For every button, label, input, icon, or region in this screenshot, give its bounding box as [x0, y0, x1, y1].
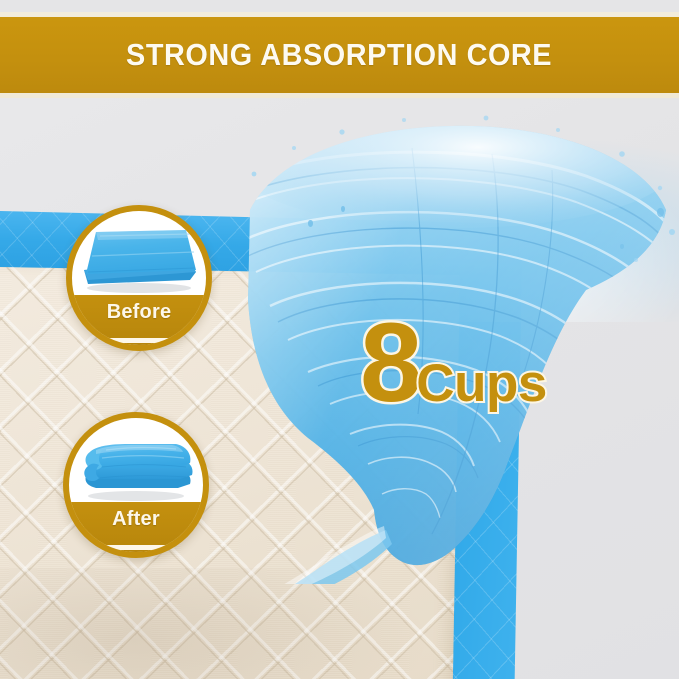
- folded-pad-icon: [69, 418, 203, 514]
- badge-before[interactable]: Before: [66, 205, 212, 351]
- banner-top-gap: [0, 0, 679, 12]
- badge-before-label: Before: [107, 301, 172, 324]
- water-droplet: [620, 244, 624, 249]
- badge-before-band: Before: [72, 295, 206, 345]
- page-title: STRONG ABSORPTION CORE: [126, 37, 552, 73]
- header-banner: STRONG ABSORPTION CORE: [0, 17, 679, 93]
- badge-after-band: After: [69, 502, 203, 552]
- product-feature-image: STRONG ABSORPTION CORE: [0, 0, 679, 679]
- water-droplet: [308, 220, 313, 227]
- flat-pad-icon: [72, 211, 206, 307]
- badge-after[interactable]: After: [63, 412, 209, 558]
- badge-after-label: After: [112, 508, 160, 531]
- water-droplet: [657, 208, 664, 217]
- scene: 8 Cups: [0, 98, 679, 679]
- water-droplet: [341, 206, 345, 212]
